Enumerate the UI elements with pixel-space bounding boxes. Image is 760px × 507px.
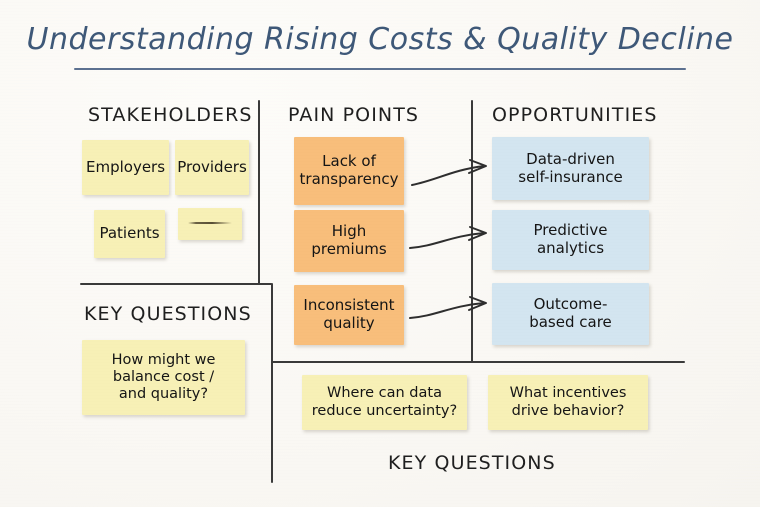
sticky-note-data-driven-self-insurance[interactable]: Data-driven self-insurance <box>492 137 649 200</box>
divider-vertical-left-lower <box>271 283 273 483</box>
section-heading-opportunities: OPPORTUNITIES <box>492 104 658 126</box>
arrow-right-icon <box>410 227 486 248</box>
sticky-note-blank[interactable] <box>178 208 242 240</box>
divider-vertical-left-upper <box>258 100 260 284</box>
sticky-note-predictive-analytics[interactable]: Predictive analytics <box>492 210 649 270</box>
sticky-note-outcome-based-care[interactable]: Outcome- based care <box>492 283 649 345</box>
sticky-note-label: Outcome- based care <box>529 296 612 331</box>
scribble-mark <box>188 222 232 224</box>
sticky-note-label: Lack of transparency <box>300 153 399 188</box>
sticky-note-what-incentives-drive-behavior[interactable]: What incentives drive behavior? <box>488 375 648 430</box>
sticky-note-how-might-we-balance[interactable]: How might we balance cost / and quality? <box>82 340 245 415</box>
section-heading-pain-points: PAIN POINTS <box>288 104 419 126</box>
sticky-note-providers[interactable]: Providers <box>175 140 249 195</box>
section-heading-key-questions-left: KEY QUESTIONS <box>84 303 252 325</box>
sticky-note-label: Employers <box>86 159 165 177</box>
sticky-note-label: Where can data reduce uncertainty? <box>312 385 457 419</box>
sticky-note-label: Providers <box>177 159 247 177</box>
section-heading-key-questions-bottom: KEY QUESTIONS <box>388 452 556 474</box>
sticky-note-lack-of-transparency[interactable]: Lack of transparency <box>294 137 404 205</box>
section-heading-stakeholders: STAKEHOLDERS <box>88 104 253 126</box>
sticky-note-high-premiums[interactable]: High premiums <box>294 210 404 272</box>
title-underline <box>74 68 686 70</box>
page-title: Understanding Rising Costs & Quality Dec… <box>0 22 760 57</box>
sticky-note-inconsistent-quality[interactable]: Inconsistent quality <box>294 285 404 345</box>
divider-horizontal-bottom <box>271 361 685 363</box>
sticky-note-employers[interactable]: Employers <box>82 140 169 195</box>
sticky-note-label: Data-driven self-insurance <box>518 151 622 186</box>
sticky-note-label: Patients <box>99 225 159 243</box>
arrow-right-icon <box>410 297 486 318</box>
sticky-note-where-can-data-reduce-uncertainty[interactable]: Where can data reduce uncertainty? <box>302 375 467 430</box>
sticky-note-label: What incentives drive behavior? <box>510 385 627 419</box>
sticky-note-label: Predictive analytics <box>534 222 608 257</box>
divider-vertical-center <box>471 100 473 362</box>
sticky-note-label: Inconsistent quality <box>303 297 394 332</box>
arrow-right-icon <box>412 160 486 185</box>
divider-horizontal-stakeholders <box>80 283 272 285</box>
sticky-note-label: High premiums <box>311 223 386 258</box>
sticky-note-label: How might we balance cost / and quality? <box>112 352 216 403</box>
sticky-note-patients[interactable]: Patients <box>94 210 165 258</box>
whiteboard-canvas: Understanding Rising Costs & Quality Dec… <box>0 0 760 507</box>
